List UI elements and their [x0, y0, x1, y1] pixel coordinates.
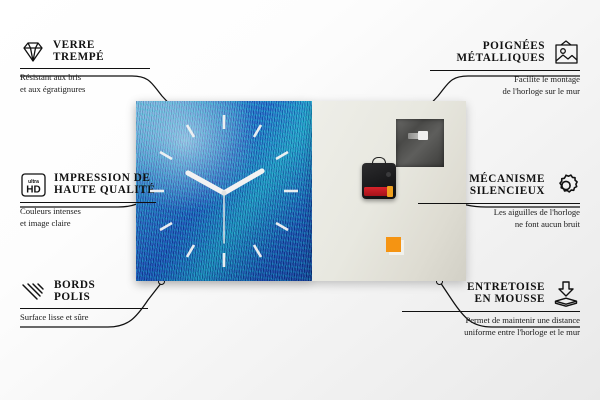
feature-subtitle-line2: ne font aucun bruit: [412, 219, 580, 230]
mechanism-hook: [372, 157, 386, 165]
feature-header: VERRE TREMPÉ: [20, 40, 170, 64]
feature-titles: ENTRETOISE EN MOUSSE: [467, 282, 545, 306]
feature-title-line2: SILENCIEUX: [469, 186, 545, 198]
feature-rule: [402, 311, 580, 312]
feature-poignees-metalliques: POIGNÉES MÉTALLIQUES Facilite le montage…: [420, 40, 580, 97]
feature-subtitle-line1: Surface lisse et sûre: [20, 312, 170, 323]
feature-subtitle-line1: Permet de maintenir une distance: [400, 315, 580, 326]
feature-subtitle-line2: uniforme entre l'horloge et le mur: [400, 327, 580, 338]
feature-titles: VERRE TREMPÉ: [53, 40, 104, 64]
hanger-slot-highlight: [418, 131, 428, 140]
diamond-icon: [20, 40, 46, 64]
feature-header: POIGNÉES MÉTALLIQUES: [420, 40, 580, 66]
clock-hands: [188, 171, 262, 243]
feature-rule: [20, 68, 150, 69]
feature-title-line2: POLIS: [54, 292, 95, 304]
feature-header: MÉCANISME SILENCIEUX: [412, 172, 580, 199]
feature-title-line2: MÉTALLIQUES: [456, 53, 545, 65]
mechanism-knob: [386, 172, 391, 177]
feature-rule: [418, 203, 580, 204]
feature-subtitle-line1: Facilite le montage: [420, 74, 580, 85]
feature-bords-polis: BORDS POLIS Surface lisse et sûre: [20, 280, 170, 324]
feature-title-line1: MÉCANISME: [469, 174, 545, 186]
feature-title-line2: TREMPÉ: [53, 52, 104, 64]
feature-title-line2: EN MOUSSE: [467, 294, 545, 306]
feature-rule: [430, 70, 580, 71]
foam-spacer: [386, 237, 401, 252]
clock-face: [136, 101, 312, 281]
metal-hanger-plate: [396, 119, 444, 167]
feature-rule: [20, 308, 148, 309]
foam-spacer-icon: [552, 280, 580, 307]
feature-subtitle-line1: Résistant aux bris: [20, 72, 170, 83]
quartz-mechanism: [362, 163, 396, 199]
polished-edges-icon: [20, 280, 47, 304]
feature-verre-trempe: VERRE TREMPÉ Résistant aux bris et aux é…: [20, 40, 170, 95]
infographic-stage: VERRE TREMPÉ Résistant aux bris et aux é…: [0, 0, 600, 400]
battery: [364, 187, 392, 196]
feature-titles: MÉCANISME SILENCIEUX: [469, 174, 545, 198]
feature-subtitle-line2: de l'horloge sur le mur: [420, 86, 580, 97]
feature-mecanisme-silencieux: MÉCANISME SILENCIEUX Les aiguilles de l'…: [412, 172, 580, 230]
feature-title-line1: ENTRETOISE: [467, 282, 545, 294]
feature-titles: POIGNÉES MÉTALLIQUES: [456, 41, 545, 65]
battery-terminal: [387, 186, 393, 197]
feature-entretoise-en-mousse: ENTRETOISE EN MOUSSE Permet de maintenir…: [400, 280, 580, 338]
ultra-hd-icon: ultra HD: [20, 172, 47, 198]
feature-header: BORDS POLIS: [20, 280, 170, 304]
gear-icon: [552, 172, 580, 199]
picture-hanger-icon: [552, 40, 580, 66]
feature-subtitle-line2: et aux égratignures: [20, 84, 170, 95]
clock-front-panel: [136, 101, 312, 281]
feature-titles: BORDS POLIS: [54, 280, 95, 304]
feature-header: ENTRETOISE EN MOUSSE: [400, 280, 580, 307]
feature-subtitle-line1: Les aiguilles de l'horloge: [412, 207, 580, 218]
ultra-hd-large-text: HD: [26, 185, 40, 196]
